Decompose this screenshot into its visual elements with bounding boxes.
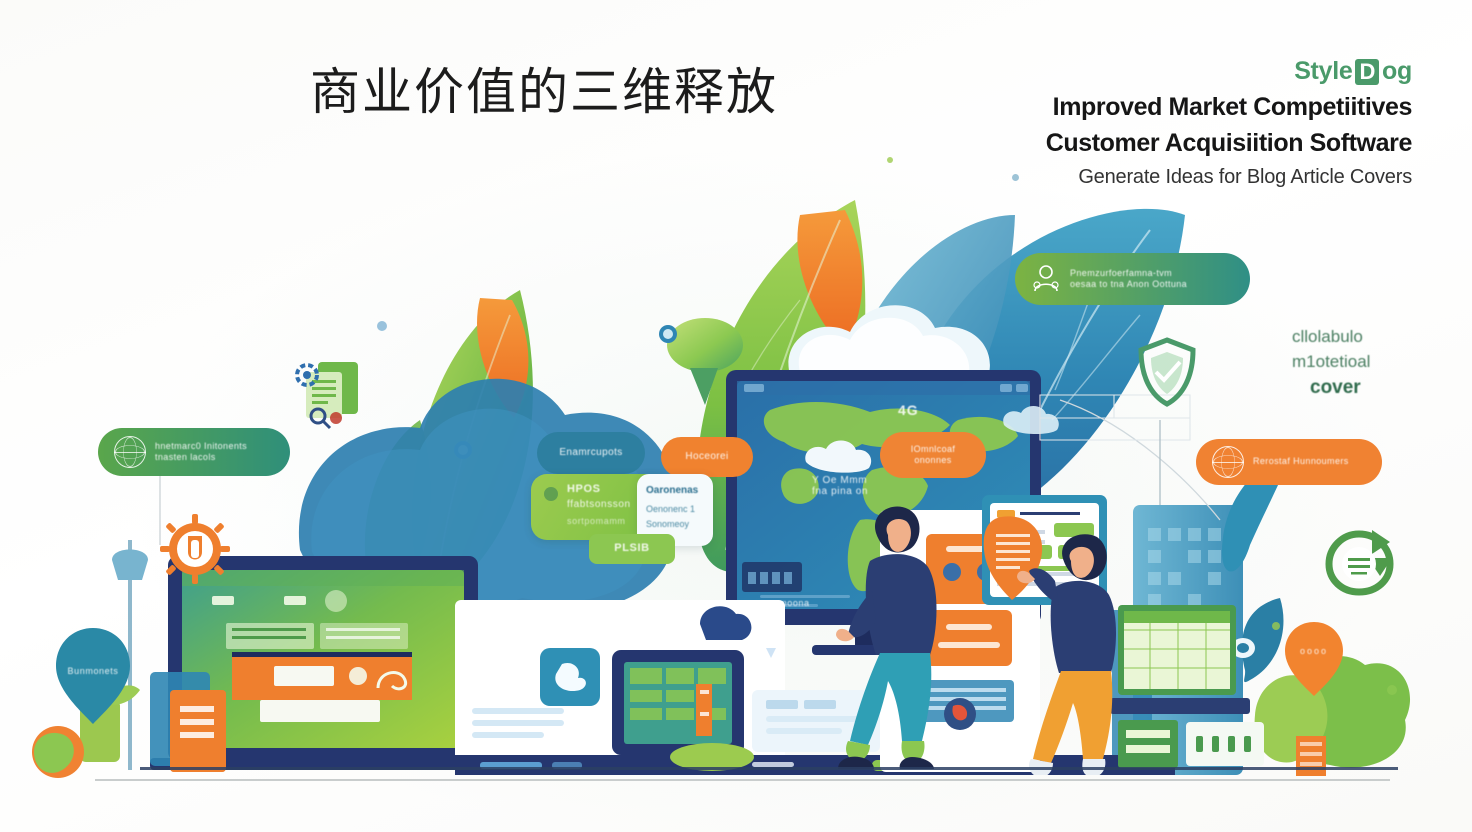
screen-caption-line1: Y Oe Mmm xyxy=(812,475,932,486)
badge-text: hnetmarc0 Initonentstnasten lacols xyxy=(155,441,247,464)
floor-shadow-line xyxy=(140,767,1398,770)
user-network-icon xyxy=(1031,263,1061,295)
side-note-line3: cover xyxy=(1310,374,1442,403)
card-line3: Sonomeoy xyxy=(646,519,689,529)
green-tag-card[interactable]: PLSIB xyxy=(589,534,675,564)
badge-customer-reach-top[interactable]: Pnemzurfoerfamna-tvmoesaa to tna Anon Oo… xyxy=(1015,253,1250,305)
map-pin-label: oooo xyxy=(1282,646,1346,656)
map-pin-teal[interactable]: Bunmonets xyxy=(52,626,134,726)
badge-text: IOmnlcoafononnes xyxy=(911,444,956,467)
screen-caption-line2: fna pina on xyxy=(812,486,932,497)
badge-screen-callout-orange[interactable]: IOmnlcoafononnes xyxy=(880,432,986,478)
badge-global-insights-left[interactable]: hnetmarc0 Initonentstnasten lacols xyxy=(98,428,290,476)
baseline-rule xyxy=(95,779,1390,781)
badge-analytics-teal[interactable]: Enamrcupots xyxy=(537,432,645,474)
card-line1: PLSIB xyxy=(589,542,675,554)
card-line3: sortpomamm xyxy=(567,516,626,526)
card-line1: Oaronenas xyxy=(646,485,698,496)
side-note-block: cllolabulo m1otetioal cover xyxy=(1292,325,1442,403)
card-line1: HPOS xyxy=(567,483,601,495)
badge-text: Rerostaf Hunnoumers xyxy=(1253,456,1349,467)
side-note-line1: cllolabulo xyxy=(1292,325,1442,350)
map-pin-label: Bunmonets xyxy=(52,666,134,676)
illustration-stage: 商业价值的三维释放 StyleDog Improved Market Compe… xyxy=(0,0,1472,832)
decorative-dots xyxy=(0,0,1472,832)
screen-map-marker: 4G xyxy=(898,402,919,418)
badge-revenue-right[interactable]: Rerostaf Hunnoumers xyxy=(1196,439,1382,485)
badge-text: Hoceorei xyxy=(685,451,728,464)
badge-text: Pnemzurfoerfamna-tvmoesaa to tna Anon Oo… xyxy=(1070,268,1187,291)
status-dot-icon xyxy=(544,487,558,501)
globe-icon xyxy=(114,436,146,468)
screen-footer-label: onoona xyxy=(776,598,810,608)
badge-process-orange[interactable]: Hoceorei xyxy=(661,437,753,477)
card-line2: ffabtsonsson xyxy=(567,499,631,510)
side-note-line2: m1otetioal xyxy=(1292,350,1442,375)
globe-grid-icon xyxy=(1212,446,1244,478)
card-line2: Oenonenc 1 xyxy=(646,504,695,514)
badge-text: Enamrcupots xyxy=(559,447,622,460)
screen-caption: Y Oe Mmm fna pina on xyxy=(812,475,932,497)
map-pin-orange[interactable]: oooo xyxy=(1282,620,1346,698)
